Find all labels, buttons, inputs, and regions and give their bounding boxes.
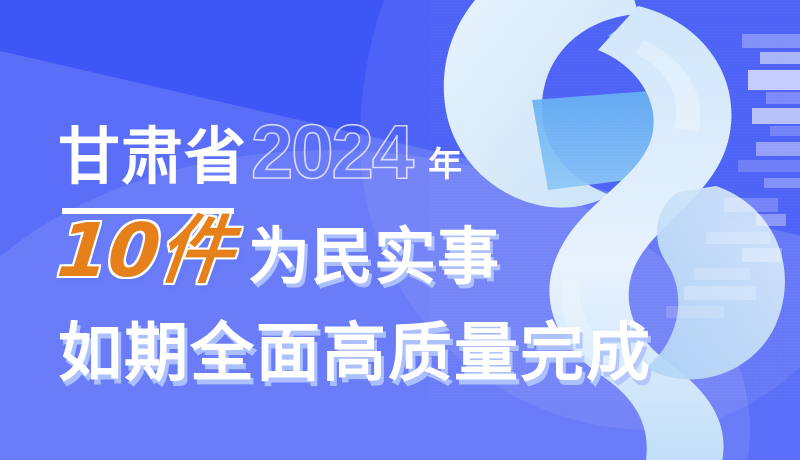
for-people-text: 为民实事 (248, 226, 500, 288)
year-number-text: 2024 (251, 117, 412, 188)
item-count-text: 10件 (54, 214, 236, 288)
stripe-band (756, 214, 786, 226)
stripe-band (770, 126, 800, 136)
stripe-band (766, 92, 800, 104)
stripe-band (748, 70, 800, 90)
province-text: 甘肃省 (58, 126, 247, 188)
stripe-band (764, 178, 800, 188)
headline-line-items: 10件 为民实事 (58, 210, 758, 288)
completed-text: 如期全面高质量完成 (58, 322, 652, 386)
poster-banner: 甘肃省 2024 年 10件 为民实事 如期全面高质量完成 (0, 0, 800, 460)
headline-block: 甘肃省 2024 年 10件 为民实事 如期全面高质量完成 (58, 104, 758, 386)
headline-line-province: 甘肃省 2024 年 (58, 104, 758, 188)
stripe-band (742, 34, 800, 48)
year-suffix-text: 年 (428, 148, 462, 182)
stripe-band (752, 108, 800, 124)
stripe-band (756, 142, 800, 156)
stripe-band (760, 52, 800, 64)
headline-line-completed: 如期全面高质量完成 (58, 308, 758, 386)
